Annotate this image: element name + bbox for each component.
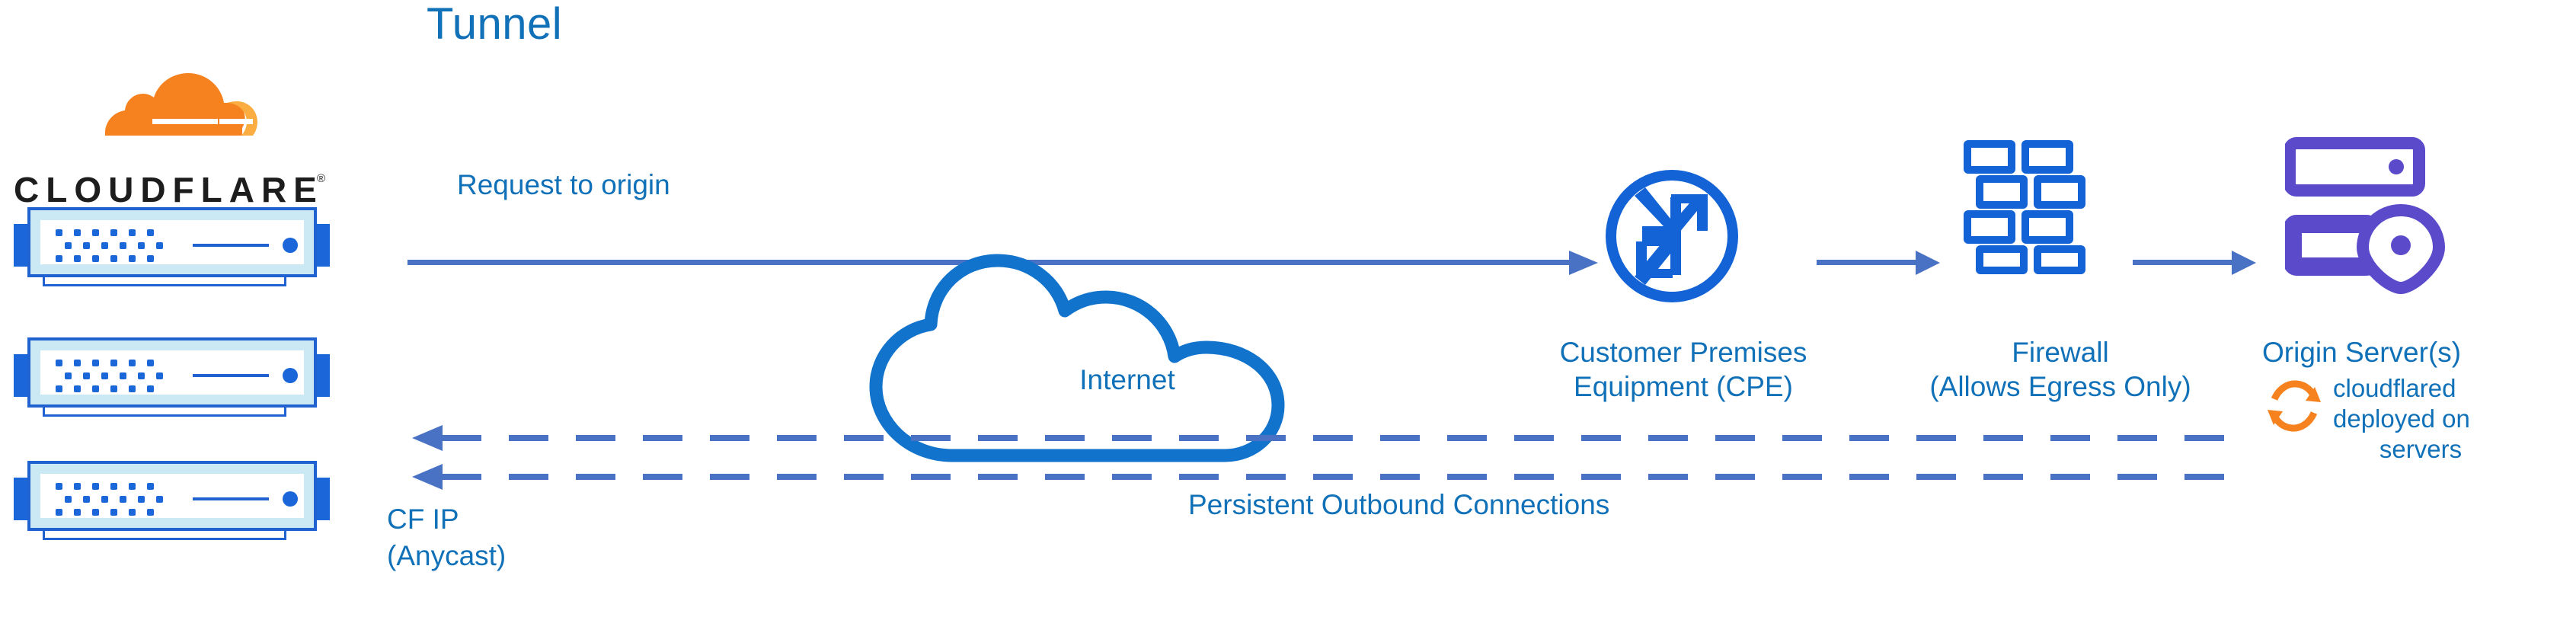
origin-server-caption: Origin Server(s) [2232, 335, 2574, 369]
cpe-caption-line1: Customer Premises [1508, 335, 1858, 369]
cpe-to-firewall-arrowhead-icon [1916, 251, 1940, 275]
cpe-caption: Customer Premises Equipment (CPE) [1508, 335, 1858, 404]
rack-status-led-icon [283, 491, 298, 507]
cloudflared-line3: servers [2333, 434, 2508, 465]
internet-cloud-node: Internet [861, 251, 1394, 465]
cf-ip-line2: (Anycast) [387, 538, 506, 574]
rack-body [27, 207, 317, 277]
firewall-caption-line1: Firewall [1889, 335, 2232, 369]
rack-port-dots-icon [56, 483, 170, 517]
persistent-connection-line-1 [442, 435, 2247, 441]
firewall-caption-line2: (Allows Egress Only) [1889, 369, 2232, 404]
rack-slot-line [193, 244, 269, 247]
return-arrowhead-icon [412, 464, 443, 490]
rack-slot-line [193, 374, 269, 377]
page-title: Tunnel [427, 0, 562, 50]
server-rack-icon [14, 337, 330, 421]
origin-server-pin-icon [2285, 137, 2460, 305]
persistent-outbound-connections-label: Persistent Outbound Connections [1188, 489, 1609, 521]
cloud-icon [861, 251, 1394, 465]
sync-refresh-icon [2266, 379, 2322, 433]
cpe-icon-svg [1600, 164, 1744, 308]
cpe-arrows-icon [1600, 164, 1744, 312]
cloudflare-cloud-icon [90, 62, 257, 139]
cloudflare-logo: CLOUDFLARE ® [14, 99, 334, 206]
cf-ip-anycast-label: CF IP (Anycast) [387, 501, 506, 574]
rack-status-led-icon [283, 238, 298, 253]
cloudflared-text: cloudflared deployed on servers [2333, 373, 2508, 465]
rack-face [40, 220, 304, 264]
cpe-to-firewall-line [1817, 260, 1916, 265]
server-rack-icon [14, 207, 330, 291]
rack-body [27, 461, 317, 531]
firewall-to-origin-arrowhead-icon [2232, 251, 2256, 275]
cf-ip-line1: CF IP [387, 501, 506, 538]
firewall-caption: Firewall (Allows Egress Only) [1889, 335, 2232, 404]
rack-port-dots-icon [56, 360, 170, 394]
diagram-canvas: Tunnel CLOUDFLARE ® [0, 0, 2576, 617]
rack-face [40, 474, 304, 518]
firewall-icon-svg [1958, 136, 2095, 277]
origin-caption-line1: Origin Server(s) [2262, 335, 2574, 369]
request-arrowhead-icon [1569, 251, 1598, 275]
request-to-origin-label: Request to origin [457, 169, 670, 201]
rack-face [40, 350, 304, 395]
cloudflared-line1: cloudflared [2333, 374, 2456, 402]
rack-port-dots-icon [56, 229, 170, 264]
internet-label: Internet [861, 364, 1394, 396]
brick-wall-icon [1958, 136, 2095, 281]
cpe-caption-line2: Equipment (CPE) [1508, 369, 1858, 404]
firewall-to-origin-line [2133, 260, 2232, 265]
return-arrowhead-icon [412, 425, 443, 451]
persistent-connection-line-2 [442, 474, 2247, 480]
origin-server-icon-svg [2285, 137, 2460, 301]
server-rack-icon [14, 461, 330, 545]
cloudflare-wordmark: CLOUDFLARE [14, 169, 324, 210]
rack-body [27, 337, 317, 408]
rack-status-led-icon [283, 368, 298, 383]
registered-trademark-icon: ® [317, 172, 325, 185]
cloudflared-line2: deployed on [2333, 404, 2470, 433]
rack-slot-line [193, 497, 269, 500]
